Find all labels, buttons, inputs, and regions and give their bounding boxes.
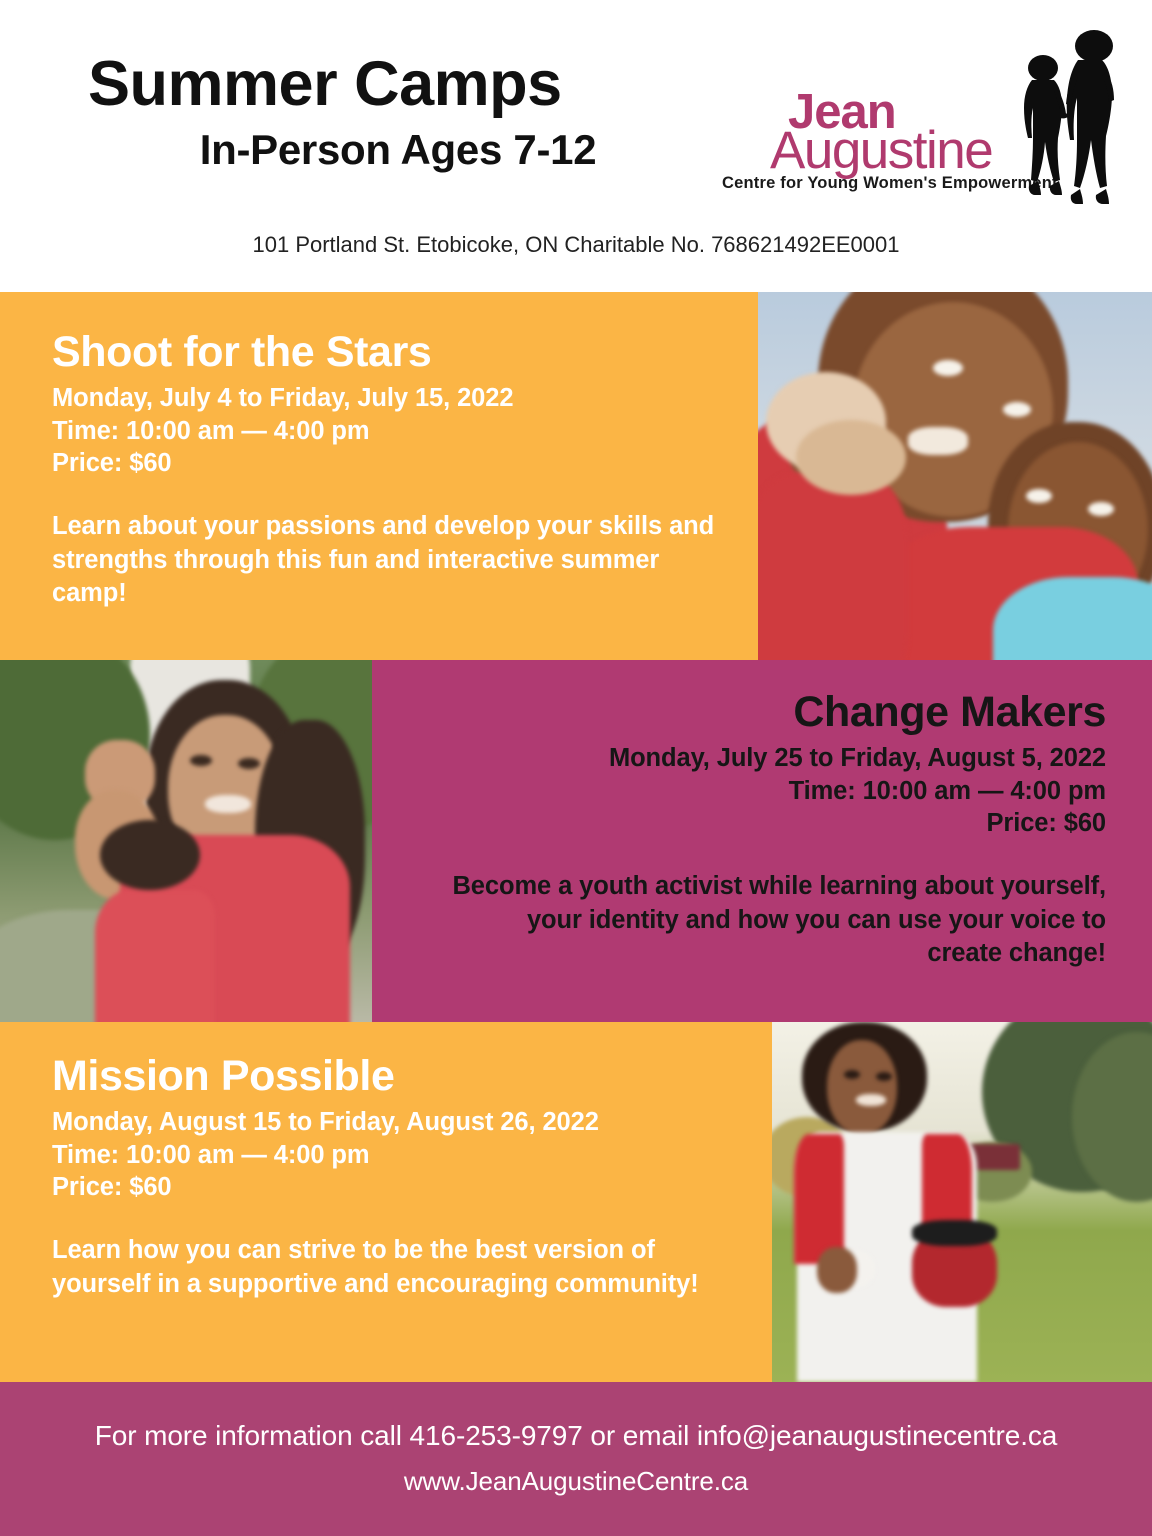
camp-dates: Monday, July 4 to Friday, July 15, 2022 <box>52 382 732 415</box>
camp-price: Price: $60 <box>52 447 732 480</box>
website-url[interactable]: www.JeanAugustineCentre.ca <box>0 1466 1152 1497</box>
title-block: Summer Camps In-Person Ages 7-12 <box>88 52 708 174</box>
camp-dates: Monday, July 25 to Friday, August 5, 202… <box>446 742 1106 775</box>
camp-price: Price: $60 <box>446 807 1106 840</box>
spacer <box>52 480 732 510</box>
camp-section-shoot-for-the-stars: Shoot for the Stars Monday, July 4 to Fr… <box>0 292 1152 660</box>
camp-text-shoot-for-the-stars: Shoot for the Stars Monday, July 4 to Fr… <box>52 328 732 611</box>
camp-title: Mission Possible <box>52 1052 732 1100</box>
page-subtitle: In-Person Ages 7-12 <box>88 126 708 174</box>
girl-flexing-arm-photo <box>0 660 372 1022</box>
camp-text-mission-possible: Mission Possible Monday, August 15 to Fr… <box>52 1052 732 1301</box>
camp-description: Learn about your passions and develop yo… <box>52 510 732 611</box>
poster-footer: For more information call 416-253-9797 o… <box>0 1382 1152 1536</box>
camp-section-change-makers: Change Makers Monday, July 25 to Friday,… <box>0 660 1152 1022</box>
camp-text-change-makers: Change Makers Monday, July 25 to Friday,… <box>446 688 1106 971</box>
contact-info: For more information call 416-253-9797 o… <box>0 1420 1152 1452</box>
spacer <box>52 1204 732 1234</box>
footer-content: For more information call 416-253-9797 o… <box>0 1382 1152 1497</box>
camp-dates: Monday, August 15 to Friday, August 26, … <box>52 1106 732 1139</box>
camp-title: Change Makers <box>446 688 1106 736</box>
organization-logo: Jean Augustine Centre for Young Women's … <box>722 26 1132 212</box>
camp-time: Time: 10:00 am — 4:00 pm <box>52 415 732 448</box>
camp-section-mission-possible: Mission Possible Monday, August 15 to Fr… <box>0 1022 1152 1382</box>
two-women-silhouette-icon <box>1010 28 1128 206</box>
camp-title: Shoot for the Stars <box>52 328 732 376</box>
poster-header: Summer Camps In-Person Ages 7-12 Jean Au… <box>0 0 1152 292</box>
logo-word-augustine: Augustine <box>770 124 992 177</box>
camp-time: Time: 10:00 am — 4:00 pm <box>446 775 1106 808</box>
camp-description: Learn how you can strive to be the best … <box>52 1234 732 1301</box>
address-and-charity-number: 101 Portland St. Etobicoke, ON Charitabl… <box>0 232 1152 258</box>
page-title: Summer Camps <box>88 52 708 116</box>
girl-with-baseball-glove-photo <box>772 1022 1152 1382</box>
camp-price: Price: $60 <box>52 1171 732 1204</box>
spacer <box>446 840 1106 870</box>
camp-description: Become a youth activist while learning a… <box>446 870 1106 971</box>
camp-time: Time: 10:00 am — 4:00 pm <box>52 1139 732 1172</box>
two-smiling-girls-photo <box>758 292 1152 660</box>
